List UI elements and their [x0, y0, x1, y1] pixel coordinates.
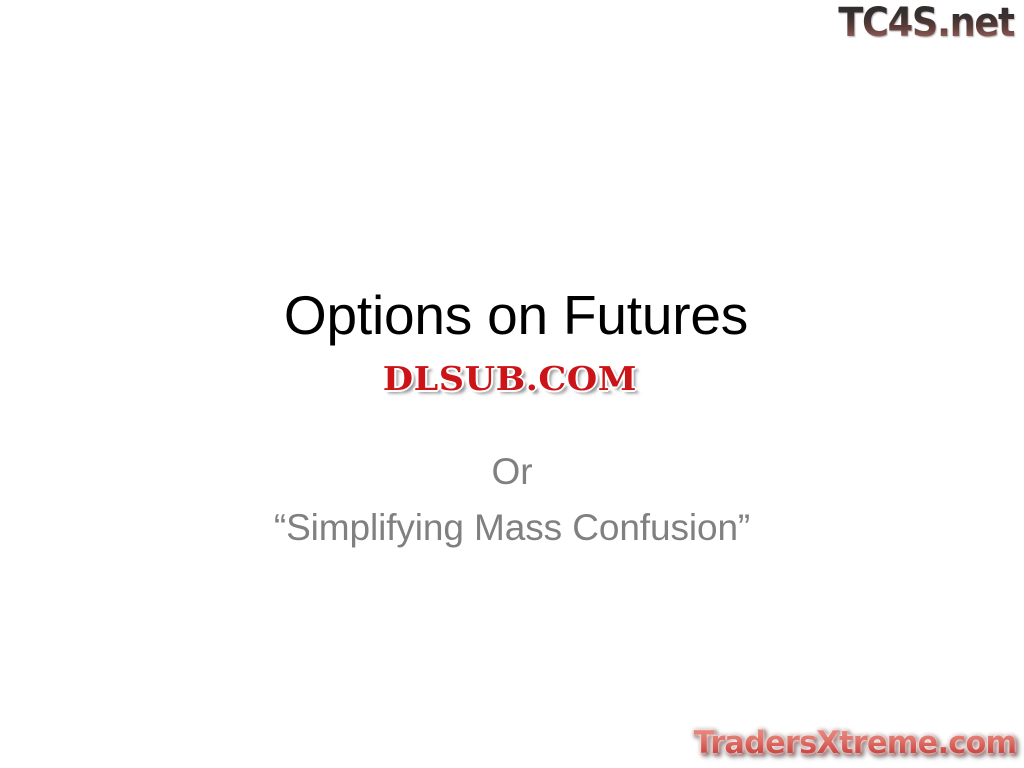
watermark-tradersxtreme-com-text: TradersXtreme.com — [693, 727, 1016, 760]
subtitle-line-1: Or — [0, 444, 1024, 500]
watermark-dlsub-com: DLSUB.COM — [0, 362, 1024, 397]
watermark-tradersxtreme-com: TradersXtreme.com — [687, 727, 1016, 760]
watermark-dlsub-com-text: DLSUB.COM — [382, 362, 636, 397]
title-block: Options on Futures — [0, 288, 1024, 343]
subtitle-block: Or “Simplifying Mass Confusion” — [0, 444, 1024, 556]
subtitle-line-2: “Simplifying Mass Confusion” — [0, 500, 1024, 556]
page-title: Options on Futures — [8, 288, 1024, 343]
watermark-tc4s-net: TC4S.net — [838, 2, 1014, 44]
presentation-slide: TC4S.net Options on Futures DLSUB.COM Or… — [0, 0, 1024, 768]
